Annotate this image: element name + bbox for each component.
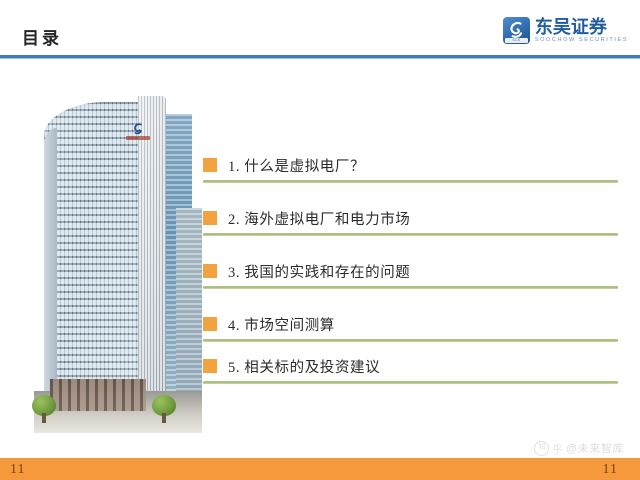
square-bullet-icon xyxy=(203,211,217,225)
page-number-right: 11 xyxy=(603,462,618,478)
toc-item-label: 1. 什么是虚拟电厂？ xyxy=(228,155,365,176)
toc-item-label: 2. 海外虚拟电厂和电力市场 xyxy=(228,208,410,229)
table-of-contents: 1. 什么是虚拟电厂？ 2. 海外虚拟电厂和电力市场 3. 我国的实践和存在的问… xyxy=(203,150,618,384)
toc-item-label: 5. 相关标的及投资建议 xyxy=(228,356,380,377)
toc-item-4[interactable]: 4. 市场空间测算 xyxy=(203,309,618,342)
spacer xyxy=(203,236,618,256)
toc-row[interactable]: 3. 我国的实践和存在的问题 xyxy=(203,256,618,286)
logo-name-en: SOOCHOW SECURITIES xyxy=(535,38,628,44)
toc-item-1[interactable]: 1. 什么是虚拟电厂？ xyxy=(203,150,618,183)
toc-item-label: 4. 市场空间测算 xyxy=(228,314,335,335)
footer-bar xyxy=(0,458,640,480)
toc-item-2[interactable]: 2. 海外虚拟电厂和电力市场 xyxy=(203,203,618,236)
photo-main-tower-facade xyxy=(44,102,146,402)
slide: 目录 SCS 东吴证券 SOOCHOW SECURITIES xyxy=(0,0,640,480)
page-number-left: 11 xyxy=(10,462,25,478)
square-bullet-icon xyxy=(203,317,217,331)
watermark-site: 乎 xyxy=(552,441,563,456)
building-logo-nameplate xyxy=(126,136,150,140)
toc-divider xyxy=(203,339,618,342)
logo-text-block: 东吴证券 SOOCHOW SECURITIES xyxy=(535,18,628,44)
toc-item-label: 3. 我国的实践和存在的问题 xyxy=(228,261,410,282)
square-bullet-icon xyxy=(203,264,217,278)
toc-row[interactable]: 5. 相关标的及投资建议 xyxy=(203,351,618,381)
toc-item-3[interactable]: 3. 我国的实践和存在的问题 xyxy=(203,256,618,289)
toc-divider xyxy=(203,233,618,236)
photo-tower-side-wing xyxy=(138,96,166,408)
square-bullet-icon xyxy=(203,359,217,373)
logo-name-cn: 东吴证券 xyxy=(535,18,628,36)
spacer xyxy=(203,183,618,203)
photo-tower-left-edge xyxy=(44,128,57,404)
toc-divider xyxy=(203,381,618,384)
watermark: 知 乎 @未来智库 xyxy=(534,440,624,456)
toc-item-5[interactable]: 5. 相关标的及投资建议 xyxy=(203,351,618,384)
photo-building-podium xyxy=(50,379,146,411)
zhihu-badge-icon: 知 xyxy=(534,441,549,456)
emblem-subtext: SCS xyxy=(505,38,528,43)
spacer xyxy=(203,342,618,351)
photo-tree-right xyxy=(152,395,176,423)
soochow-emblem-icon: SCS xyxy=(503,17,530,44)
company-logo: SCS 东吴证券 SOOCHOW SECURITIES xyxy=(503,17,628,44)
headquarters-building-photo xyxy=(26,88,202,433)
toc-row[interactable]: 4. 市场空间测算 xyxy=(203,309,618,339)
header-divider-thin xyxy=(0,58,640,59)
toc-divider xyxy=(203,180,618,183)
toc-divider xyxy=(203,286,618,289)
toc-row[interactable]: 1. 什么是虚拟电厂？ xyxy=(203,150,618,180)
square-bullet-icon xyxy=(203,158,217,172)
photo-tree-left xyxy=(32,395,56,423)
slide-header: 目录 SCS 东吴证券 SOOCHOW SECURITIES xyxy=(0,0,640,57)
watermark-text: @未来智库 xyxy=(566,440,624,456)
toc-row[interactable]: 2. 海外虚拟电厂和电力市场 xyxy=(203,203,618,233)
page-title: 目录 xyxy=(22,24,62,49)
spacer xyxy=(203,289,618,309)
